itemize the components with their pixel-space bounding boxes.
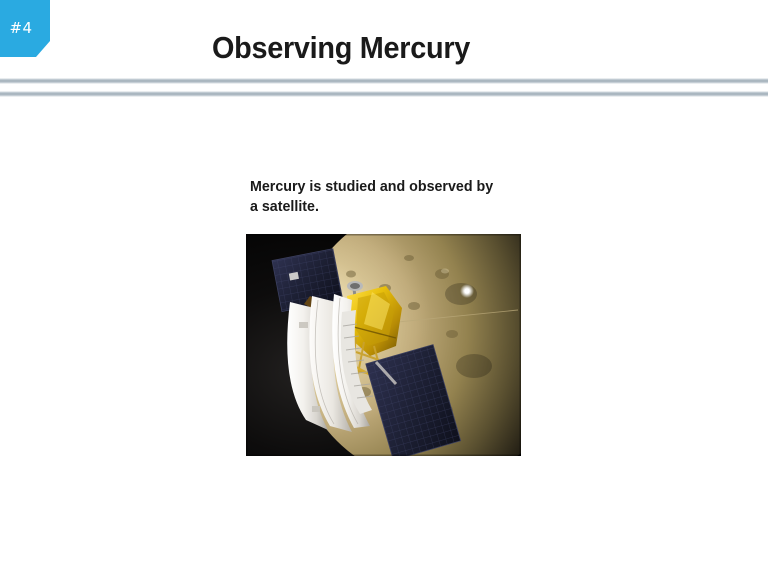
divider-line-top: [0, 78, 768, 84]
page-title: Observing Mercury: [212, 29, 470, 67]
slide-number-label: #4: [0, 18, 42, 38]
header-divider: [0, 78, 768, 98]
slide: #4 Observing Mercury Mercury is studied …: [0, 0, 768, 561]
slide-header: #4 Observing Mercury: [0, 0, 768, 78]
divider-line-bottom: [0, 91, 768, 97]
mercury-spacecraft-illustration: [246, 234, 521, 456]
mercury-spacecraft-image: [246, 234, 521, 456]
body-caption: Mercury is studied and observed by a sat…: [250, 177, 499, 217]
slide-content: Mercury is studied and observed by a sat…: [0, 98, 768, 561]
